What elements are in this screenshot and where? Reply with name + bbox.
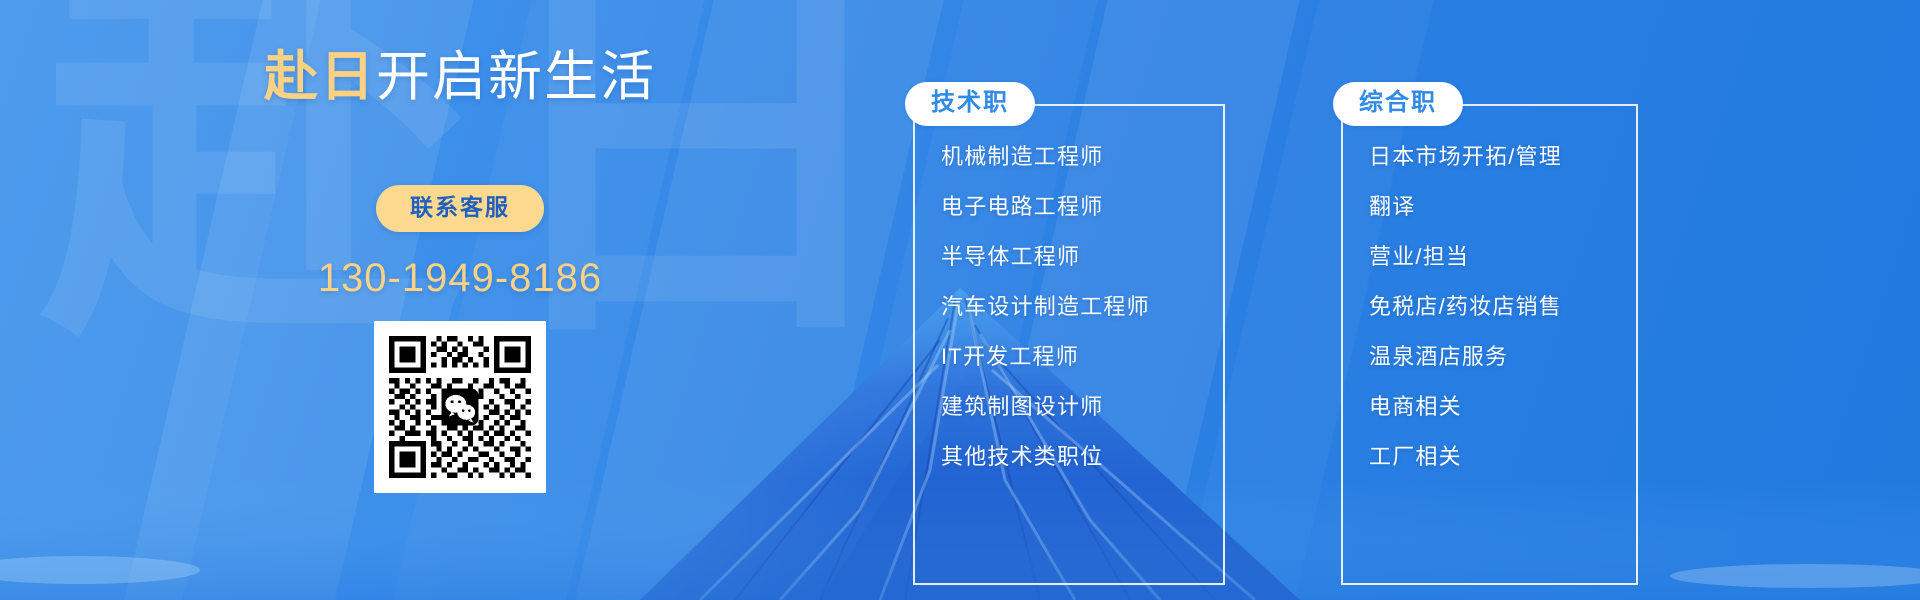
list-item[interactable]: 电商相关	[1369, 396, 1638, 418]
job-categories: 技术职 机械制造工程师 电子电路工程师 半导体工程师 汽车设计制造工程师 IT开…	[905, 0, 1665, 600]
list-item[interactable]: 工厂相关	[1369, 446, 1638, 468]
qr-code-icon	[384, 331, 536, 483]
promo-banner: 赴日	[0, 0, 1920, 600]
list-item[interactable]: 温泉酒店服务	[1369, 346, 1638, 368]
list-item[interactable]: 翻译	[1369, 196, 1638, 218]
phone-number: 130-1949-8186	[318, 256, 602, 301]
list-item[interactable]: 汽车设计制造工程师	[941, 296, 1225, 318]
list-item[interactable]: 建筑制图设计师	[941, 396, 1225, 418]
page-title: 赴日开启新生活	[264, 48, 656, 107]
list-item[interactable]: 电子电路工程师	[941, 196, 1225, 218]
list-item[interactable]: 半导体工程师	[941, 246, 1225, 268]
contact-support-button[interactable]: 联系客服	[376, 185, 544, 232]
contact-block: 赴日开启新生活 联系客服 130-1949-8186	[120, 0, 800, 600]
job-column-general: 综合职 日本市场开拓/管理 翻译 营业/担当 免税店/药妆店销售 温泉酒店服务 …	[1333, 82, 1638, 468]
list-item[interactable]: 机械制造工程师	[941, 146, 1225, 168]
job-list-tech: 机械制造工程师 电子电路工程师 半导体工程师 汽车设计制造工程师 IT开发工程师…	[941, 146, 1225, 468]
wechat-qr-code[interactable]	[374, 321, 546, 493]
list-item[interactable]: 免税店/药妆店销售	[1369, 296, 1638, 318]
list-item[interactable]: 其他技术类职位	[941, 446, 1225, 468]
job-column-label-tech[interactable]: 技术职	[905, 82, 1035, 126]
list-item[interactable]: 营业/担当	[1369, 246, 1638, 268]
job-column-tech: 技术职 机械制造工程师 电子电路工程师 半导体工程师 汽车设计制造工程师 IT开…	[905, 82, 1225, 468]
list-item[interactable]: 日本市场开拓/管理	[1369, 146, 1638, 168]
job-column-label-general[interactable]: 综合职	[1333, 82, 1463, 126]
job-list-general: 日本市场开拓/管理 翻译 营业/担当 免税店/药妆店销售 温泉酒店服务 电商相关…	[1369, 146, 1638, 468]
headline-plain: 开启新生活	[376, 47, 656, 107]
list-item[interactable]: IT开发工程师	[941, 346, 1225, 368]
headline-accent: 赴日	[264, 47, 376, 107]
wechat-logo-icon	[442, 389, 479, 426]
